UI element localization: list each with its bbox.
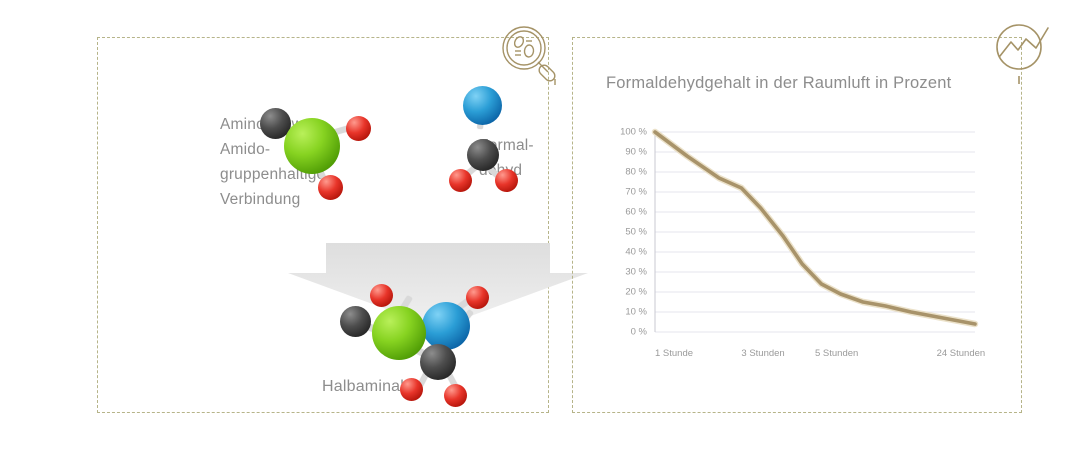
- atom-oxygen: [400, 378, 423, 401]
- chart-title: Formaldehydgehalt in der Raumluft in Pro…: [606, 74, 951, 93]
- halbaminal-molecule: [326, 278, 506, 408]
- infographic-canvas: Amino- bzw. Amido- gruppenhaltige Verbin…: [0, 0, 1080, 462]
- amino-compound-molecule: [242, 96, 372, 206]
- atom-carbon: [420, 344, 456, 380]
- atom-oxygen: [444, 384, 467, 407]
- atom-oxygen: [449, 169, 472, 192]
- atom-oxygen: [318, 175, 343, 200]
- atom-oxygen: [466, 286, 489, 309]
- trend-chart-circle-icon: [992, 20, 1056, 86]
- atom-center: [284, 118, 340, 174]
- atom-oxygen: [370, 284, 393, 307]
- line-chart: 0 %10 %20 %30 %40 %50 %60 %70 %80 %90 %1…: [600, 120, 1000, 370]
- atom-oxygen: [346, 116, 371, 141]
- formaldehyde-molecule: [443, 78, 523, 193]
- atom-oxygen-blue: [422, 302, 470, 350]
- atom-oxygen: [495, 169, 518, 192]
- atom-carbon: [340, 306, 371, 337]
- magnifier-molecules-icon: [498, 22, 562, 86]
- atom-carbon: [467, 139, 499, 171]
- atom-center: [372, 306, 426, 360]
- reaction-panel: Amino- bzw. Amido- gruppenhaltige Verbin…: [97, 37, 549, 413]
- chart-plot: [600, 120, 1000, 370]
- atom-oxygen-blue: [463, 86, 502, 125]
